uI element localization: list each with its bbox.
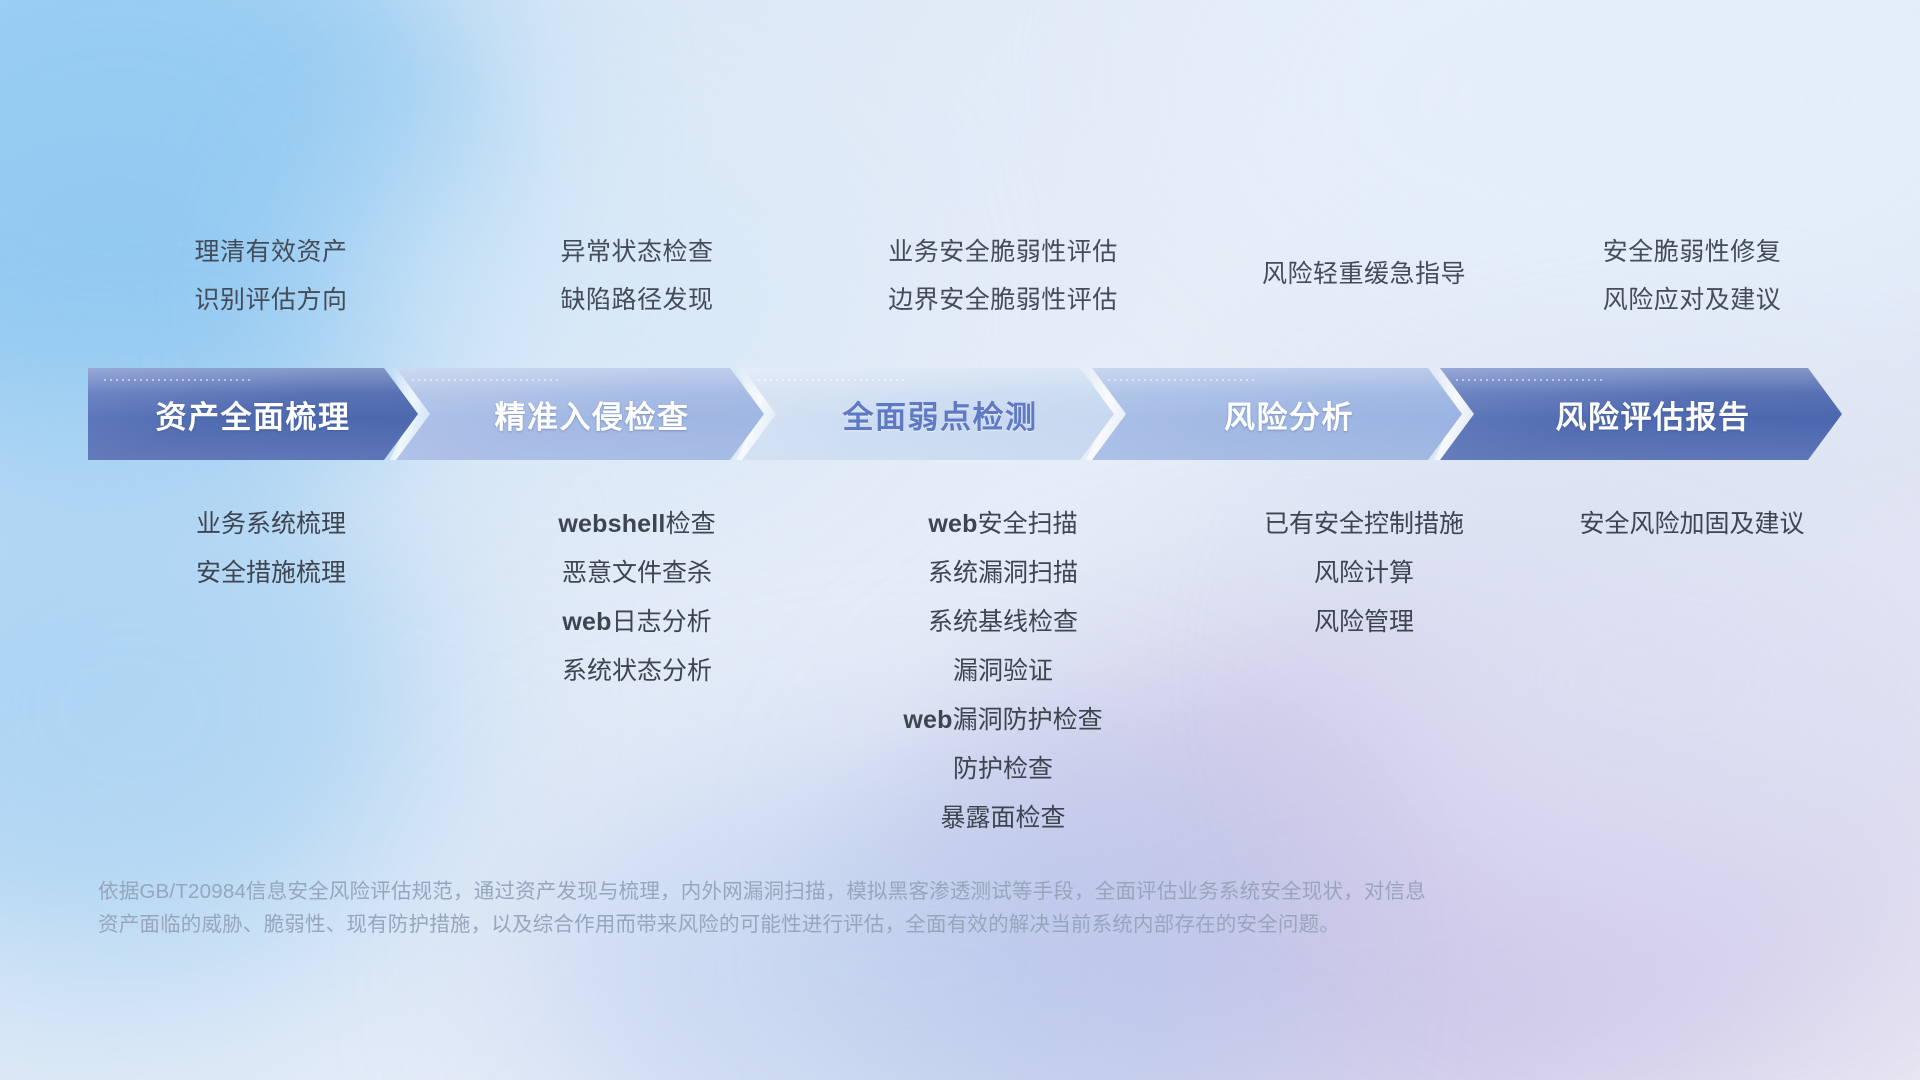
footer-line-2: 资产面临的威胁、脆弱性、现有防护措施，以及综合作用而带来风险的可能性进行评估，全… <box>98 908 1738 941</box>
list-item: 防护检查 <box>820 745 1186 794</box>
list-item: web漏洞防护检查 <box>820 696 1186 745</box>
process-step-asset-inventory[interactable]: 资产全面梳理 <box>88 368 418 460</box>
list-item: webshell检查 <box>454 500 820 549</box>
chevron-dot-texture <box>410 377 560 383</box>
top-caption: 缺陷路径发现 <box>454 276 820 324</box>
list-item: 恶意文件查杀 <box>454 549 820 598</box>
list-item: 暴露面检查 <box>820 794 1186 843</box>
chevron-dot-texture <box>1106 377 1256 383</box>
list-item: web安全扫描 <box>820 500 1186 549</box>
stage-list-weakness-detection: web安全扫描系统漏洞扫描系统基线检查漏洞验证web漏洞防护检查防护检查暴露面检… <box>820 500 1186 843</box>
list-item-latin-prefix: web <box>928 510 977 538</box>
list-item-text: 安全扫描 <box>978 510 1078 538</box>
top-caption: 识别评估方向 <box>88 276 454 324</box>
list-item: 漏洞验证 <box>820 647 1186 696</box>
list-item: 风险管理 <box>1186 598 1542 647</box>
stage-list-intrusion-check: webshell检查恶意文件查杀web日志分析系统状态分析 <box>454 500 820 696</box>
stage-list-asset-inventory: 业务系统梳理安全措施梳理 <box>88 500 454 598</box>
list-item: 安全风险加固及建议 <box>1542 500 1842 549</box>
process-arrow-band: 资产全面梳理精准入侵检查全面弱点检测风险分析风险评估报告 <box>88 368 1842 460</box>
list-item-latin-prefix: web <box>562 608 611 636</box>
list-item: 业务系统梳理 <box>88 500 454 549</box>
chevron-dot-texture <box>756 377 906 383</box>
top-caption: 风险轻重缓急指导 <box>1186 250 1542 298</box>
list-item-text: 日志分析 <box>612 608 712 636</box>
top-caption-group-weakness-detection: 业务安全脆弱性评估边界安全脆弱性评估 <box>820 228 1186 324</box>
list-item-text: 漏洞防护检查 <box>953 706 1103 734</box>
list-item: 安全措施梳理 <box>88 549 454 598</box>
process-step-label: 风险分析 <box>1224 392 1354 437</box>
list-item: 系统漏洞扫描 <box>820 549 1186 598</box>
process-step-weakness-detection[interactable]: 全面弱点检测 <box>742 368 1114 460</box>
list-item-latin-prefix: web <box>903 706 952 734</box>
top-caption-group-risk-analysis: 风险轻重缓急指导 <box>1186 250 1542 298</box>
stage-list-risk-report: 安全风险加固及建议 <box>1542 500 1842 549</box>
process-step-risk-report[interactable]: 风险评估报告 <box>1440 368 1842 460</box>
process-step-label: 资产全面梳理 <box>156 392 351 437</box>
top-caption-group-asset-inventory: 理清有效资产识别评估方向 <box>88 228 454 324</box>
top-caption-group-intrusion-check: 异常状态检查缺陷路径发现 <box>454 228 820 324</box>
top-caption: 边界安全脆弱性评估 <box>820 276 1186 324</box>
list-item-text: 检查 <box>666 510 716 538</box>
chevron-dot-texture <box>1454 377 1604 383</box>
process-step-label: 风险评估报告 <box>1556 392 1751 437</box>
list-item: 系统基线检查 <box>820 598 1186 647</box>
process-step-risk-analysis[interactable]: 风险分析 <box>1092 368 1462 460</box>
list-item: 风险计算 <box>1186 549 1542 598</box>
stage-list-risk-analysis: 已有安全控制措施风险计算风险管理 <box>1186 500 1542 647</box>
footer-description: 依据GB/T20984信息安全风险评估规范，通过资产发现与梳理，内外网漏洞扫描，… <box>98 875 1738 941</box>
top-caption: 理清有效资产 <box>88 228 454 276</box>
top-caption: 异常状态检查 <box>454 228 820 276</box>
top-caption-group-risk-report: 安全脆弱性修复风险应对及建议 <box>1542 228 1842 324</box>
top-caption: 安全脆弱性修复 <box>1542 228 1842 276</box>
list-item: web日志分析 <box>454 598 820 647</box>
footer-line-1: 依据GB/T20984信息安全风险评估规范，通过资产发现与梳理，内外网漏洞扫描，… <box>98 875 1738 908</box>
list-item: 已有安全控制措施 <box>1186 500 1542 549</box>
chevron-dot-texture <box>102 377 252 383</box>
top-caption: 业务安全脆弱性评估 <box>820 228 1186 276</box>
list-item-latin-prefix: webshell <box>558 510 665 538</box>
process-step-intrusion-check[interactable]: 精准入侵检查 <box>396 368 764 460</box>
slide-canvas: 理清有效资产识别评估方向异常状态检查缺陷路径发现业务安全脆弱性评估边界安全脆弱性… <box>0 0 1920 1080</box>
process-step-label: 全面弱点检测 <box>843 392 1038 437</box>
process-step-label: 精准入侵检查 <box>495 392 690 437</box>
list-item: 系统状态分析 <box>454 647 820 696</box>
top-caption: 风险应对及建议 <box>1542 276 1842 324</box>
